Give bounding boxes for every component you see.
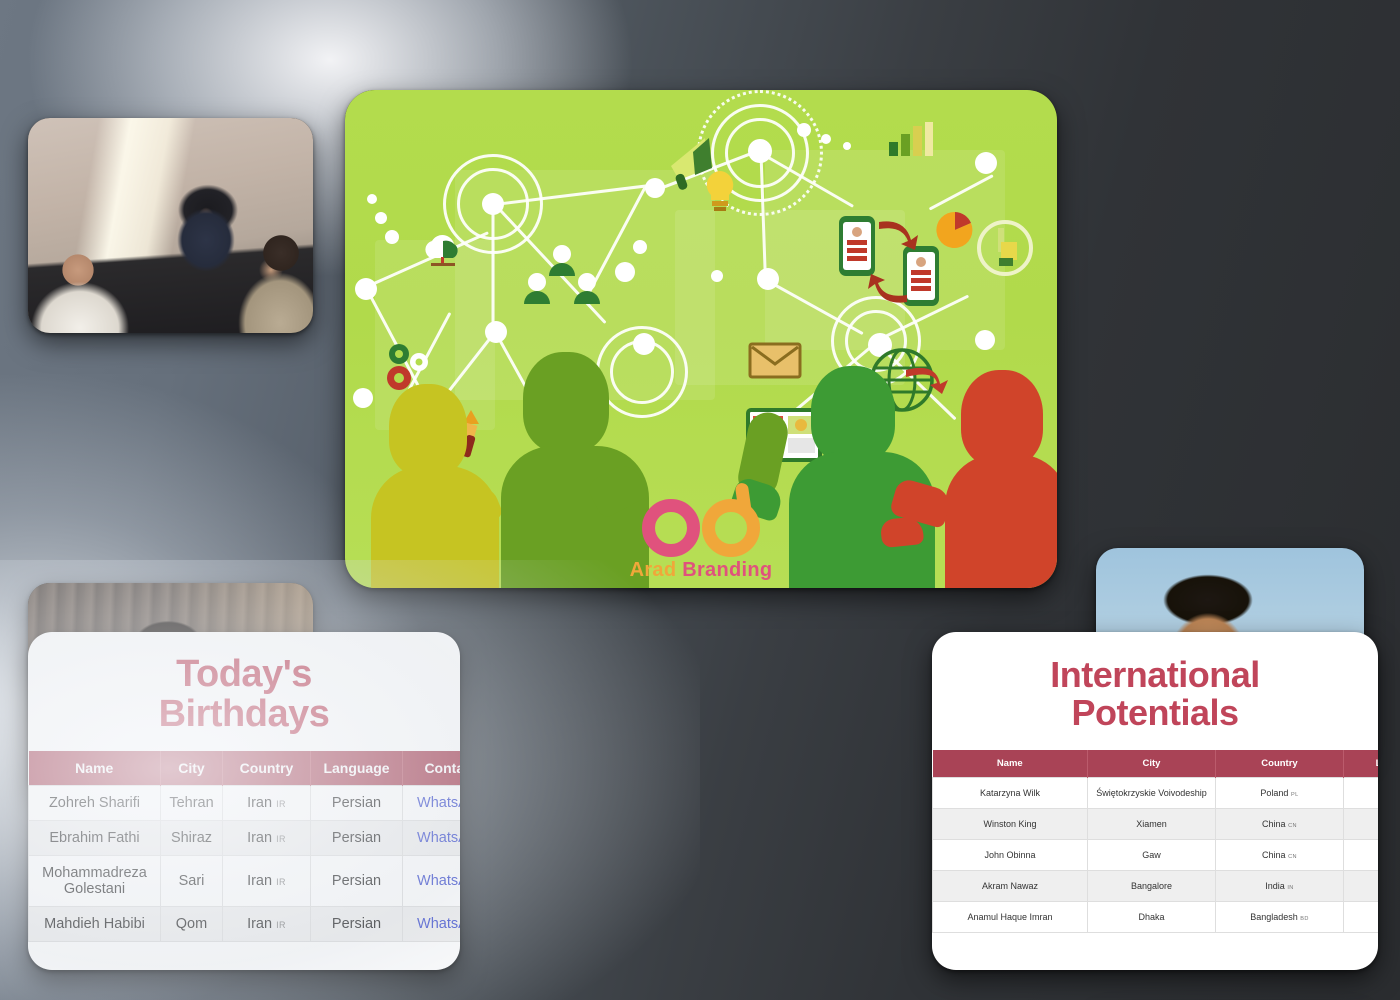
- cell-city: Tehran: [161, 785, 223, 820]
- network-node: [843, 142, 851, 150]
- cell-city: Qom: [161, 906, 223, 941]
- network-node: [821, 134, 831, 144]
- office-meeting-photo[interactable]: [28, 118, 313, 333]
- international-title-line2: Potentials: [942, 694, 1368, 732]
- cell-city: Dhaka: [1088, 902, 1216, 933]
- network-node: [645, 178, 665, 198]
- table-row[interactable]: John Obinna Gaw China CN English: [933, 840, 1379, 871]
- cell-country: Bangladesh BD: [1216, 902, 1344, 933]
- logo-word-branding: Branding: [682, 559, 772, 581]
- bar-chart-icon: [887, 120, 935, 158]
- birthdays-title-line1: Today's: [38, 654, 450, 694]
- column-header-city: City: [1088, 750, 1216, 778]
- table-row[interactable]: Mahdieh Habibi Qom Iran IR Persian Whats…: [29, 906, 461, 941]
- award-icon: [975, 218, 1035, 280]
- network-node: [633, 240, 647, 254]
- people-group-icon: [523, 242, 601, 306]
- cell-contact[interactable]: WhatsApp: [403, 906, 461, 941]
- cell-name: Zohreh Sharifi: [29, 785, 161, 820]
- cell-country: China CN: [1216, 840, 1344, 871]
- table-row[interactable]: Katarzyna Wilk Świętokrzyskie Voivodeshi…: [933, 778, 1379, 809]
- birthdays-title-line2: Birthdays: [38, 694, 450, 734]
- cell-city: Xiamen: [1088, 809, 1216, 840]
- whatsapp-link: WhatsApp: [417, 830, 460, 846]
- ab-monogram-icon: [642, 483, 760, 557]
- cell-language: English: [1344, 778, 1379, 809]
- international-table-header-row: Name City Country Language: [933, 750, 1379, 778]
- birthdays-table-header-row: Name City Country Language Contact: [29, 751, 461, 786]
- cell-language: English: [1344, 871, 1379, 902]
- column-header-language: Language: [1344, 750, 1379, 778]
- cloud-icon: [419, 230, 469, 270]
- cell-language: Persian: [311, 906, 403, 941]
- cell-language: Persian: [311, 785, 403, 820]
- table-row[interactable]: Mohammadreza Golestani Sari Iran IR Pers…: [29, 855, 461, 906]
- cell-name: Mohammadreza Golestani: [29, 855, 161, 906]
- cell-country: India IN: [1216, 871, 1344, 902]
- international-potentials-card[interactable]: International Potentials Name City Count…: [932, 632, 1378, 970]
- whatsapp-link: WhatsApp: [417, 795, 460, 811]
- network-node: [757, 268, 779, 290]
- arad-branding-network-banner[interactable]: Arad Branding: [345, 90, 1057, 588]
- cell-country: Iran IR: [223, 855, 311, 906]
- network-node: [975, 330, 995, 350]
- cell-country: China CN: [1216, 809, 1344, 840]
- screen-backdrop: Arad Branding Today's Birthdays Name Cit…: [0, 0, 1400, 1000]
- table-row[interactable]: Ebrahim Fathi Shiraz Iran IR Persian Wha…: [29, 820, 461, 855]
- international-table: Name City Country Language Katarzyna Wil…: [932, 750, 1378, 933]
- column-header-contact: Contact: [403, 751, 461, 786]
- network-node: [485, 321, 507, 343]
- arad-branding-logo: Arad Branding: [601, 483, 801, 582]
- column-header-country: Country: [223, 751, 311, 786]
- cell-country: Iran IR: [223, 820, 311, 855]
- cell-city: Shiraz: [161, 820, 223, 855]
- audience-silhouette: [931, 366, 1057, 588]
- cell-name: Katarzyna Wilk: [933, 778, 1088, 809]
- lightbulb-icon: [700, 168, 740, 216]
- table-row[interactable]: Winston King Xiamen China CN English: [933, 809, 1379, 840]
- cell-name: Winston King: [933, 809, 1088, 840]
- cell-name: Ebrahim Fathi: [29, 820, 161, 855]
- network-node: [975, 152, 997, 174]
- network-node: [615, 262, 635, 282]
- logo-wordmark: Arad Branding: [601, 559, 801, 582]
- cell-name: Mahdieh Habibi: [29, 906, 161, 941]
- table-row[interactable]: Akram Nawaz Bangalore India IN English: [933, 871, 1379, 902]
- column-header-city: City: [161, 751, 223, 786]
- network-node: [375, 212, 387, 224]
- network-node: [367, 194, 377, 204]
- network-node: [482, 193, 504, 215]
- cell-country: Iran IR: [223, 906, 311, 941]
- column-header-name: Name: [29, 751, 161, 786]
- cell-language: English: [1344, 840, 1379, 871]
- cell-city: Sari: [161, 855, 223, 906]
- cell-name: Anamul Haque Imran: [933, 902, 1088, 933]
- pie-chart-icon: [935, 210, 975, 250]
- table-row[interactable]: Anamul Haque Imran Dhaka Bangladesh BD E…: [933, 902, 1379, 933]
- international-potentials-title: International Potentials: [932, 632, 1378, 750]
- column-header-name: Name: [933, 750, 1088, 778]
- birthdays-table-wrap: Name City Country Language Contact Zohre…: [28, 751, 460, 942]
- cell-name: Akram Nawaz: [933, 871, 1088, 902]
- birthdays-table: Name City Country Language Contact Zohre…: [28, 751, 460, 942]
- international-table-wrap: Name City Country Language Katarzyna Wil…: [932, 750, 1378, 933]
- cell-contact[interactable]: WhatsApp: [403, 820, 461, 855]
- cell-city: Bangalore: [1088, 871, 1216, 902]
- cell-country: Iran IR: [223, 785, 311, 820]
- cell-city: Świętokrzyskie Voivodeship: [1088, 778, 1216, 809]
- cell-language: English: [1344, 809, 1379, 840]
- column-header-country: Country: [1216, 750, 1344, 778]
- cell-contact[interactable]: WhatsApp: [403, 785, 461, 820]
- todays-birthdays-card[interactable]: Today's Birthdays Name City Country Lang…: [28, 632, 460, 970]
- network-node: [711, 270, 723, 282]
- international-title-line1: International: [942, 656, 1368, 694]
- network-node: [385, 230, 399, 244]
- cell-name: John Obinna: [933, 840, 1088, 871]
- cell-language: English: [1344, 902, 1379, 933]
- column-header-language: Language: [311, 751, 403, 786]
- network-node: [797, 123, 811, 137]
- audience-silhouette: [365, 378, 505, 588]
- audience-silhouette: [785, 362, 941, 588]
- office-meeting-image: [28, 118, 313, 333]
- cell-city: Gaw: [1088, 840, 1216, 871]
- cell-country: Poland PL: [1216, 778, 1344, 809]
- cell-contact[interactable]: WhatsApp: [403, 855, 461, 906]
- cell-language: Persian: [311, 820, 403, 855]
- network-node: [355, 278, 377, 300]
- todays-birthdays-title: Today's Birthdays: [28, 632, 460, 751]
- network-node: [748, 139, 772, 163]
- logo-word-arad: Arad: [630, 559, 677, 581]
- whatsapp-link: WhatsApp: [417, 873, 460, 889]
- whatsapp-link: WhatsApp: [417, 916, 460, 932]
- smartphone-icon: [837, 210, 949, 318]
- table-row[interactable]: Zohreh Sharifi Tehran Iran IR Persian Wh…: [29, 785, 461, 820]
- cell-language: Persian: [311, 855, 403, 906]
